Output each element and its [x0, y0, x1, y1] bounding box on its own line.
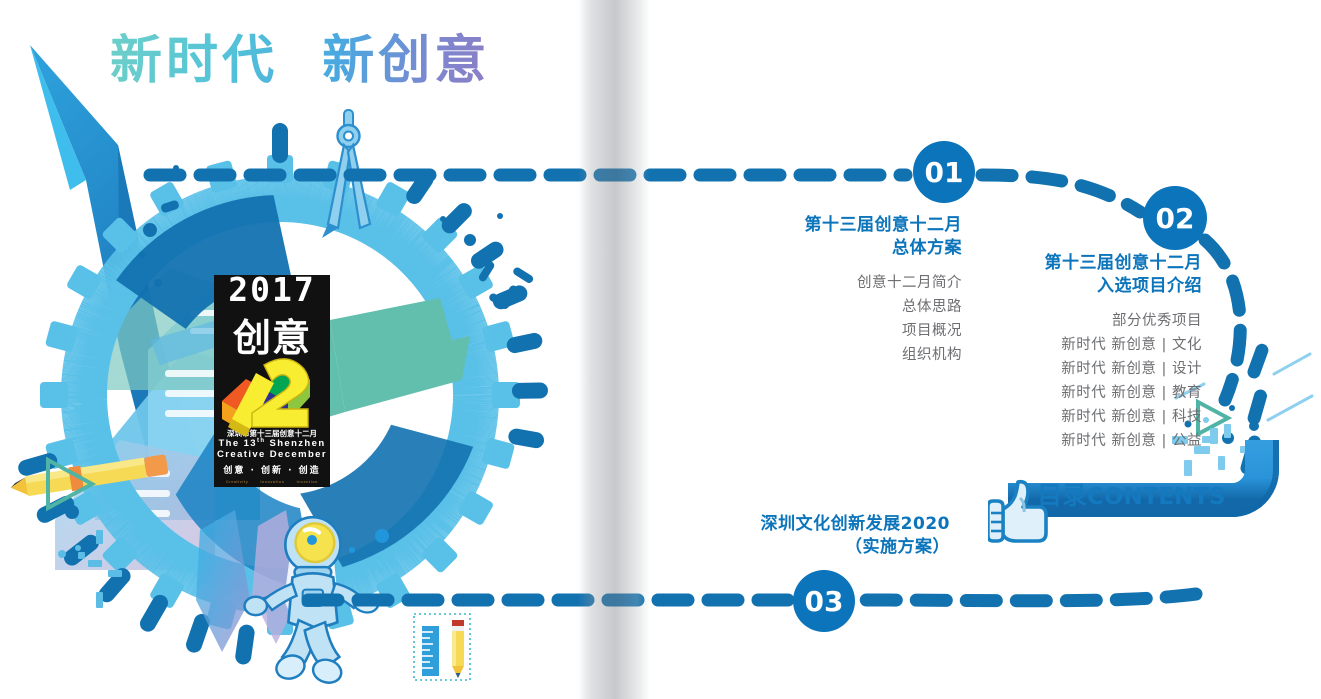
event-poster: 2017 创意 深圳市第十三届创意十二月 The 13th Shenzhen C… [214, 275, 330, 487]
list-item[interactable]: 新时代 新创意 | 科技 [982, 405, 1202, 429]
poster-year: 2017 [214, 275, 330, 309]
contents-label: 目录CONTENTS [1037, 476, 1226, 512]
pencil-icon [452, 620, 464, 678]
section-01-title: 第十三届创意十二月 总体方案 [742, 214, 962, 260]
list-item[interactable]: 部分优秀项目 [982, 309, 1202, 333]
toc-section-03[interactable]: 深圳文化创新发展2020 （实施方案） [700, 513, 950, 559]
section-01-title-line1: 第十三届创意十二月 [742, 214, 962, 237]
contents-label-en: CONTENTS [1087, 484, 1226, 510]
poster-12-graphic [216, 349, 328, 441]
ruler-icon [422, 626, 439, 676]
section-03-title: 深圳文化创新发展2020 （实施方案） [700, 513, 950, 559]
list-item[interactable]: 创意十二月简介 [742, 271, 962, 295]
section-badge-02[interactable]: 02 [1143, 186, 1207, 250]
list-item[interactable]: 新时代 新创意 | 设计 [982, 357, 1202, 381]
section-02-items: 部分优秀项目 新时代 新创意 | 文化 新时代 新创意 | 设计 新时代 新创意… [982, 309, 1202, 453]
list-item[interactable]: 组织机构 [742, 343, 962, 367]
section-03-title-line2: （实施方案） [700, 536, 950, 559]
section-01-title-line2: 总体方案 [742, 237, 962, 260]
tagline-en-1: Creativity [226, 480, 248, 484]
list-item[interactable]: 新时代 新创意 | 教育 [982, 381, 1202, 405]
section-badge-03[interactable]: 03 [793, 570, 855, 632]
section-02-title: 第十三届创意十二月 入选项目介绍 [982, 252, 1202, 298]
tagline-en-2: Innovation [260, 480, 284, 484]
poster-caption-en-c: Creative December [217, 449, 327, 460]
list-item[interactable]: 新时代 新创意 | 文化 [982, 333, 1202, 357]
section-03-title-line1: 深圳文化创新发展2020 [700, 513, 950, 536]
section-badge-01[interactable]: 01 [913, 141, 975, 203]
toc-section-01[interactable]: 第十三届创意十二月 总体方案 创意十二月简介 总体思路 项目概况 组织机构 [742, 214, 962, 367]
poster-tagline-en: Creativity Innovation Invention [214, 480, 330, 484]
section-01-items: 创意十二月简介 总体思路 项目概况 组织机构 [742, 271, 962, 367]
list-item[interactable]: 总体思路 [742, 295, 962, 319]
ruler-and-pencil-group [412, 612, 492, 692]
page-title: 新时代 新创意 [110, 18, 490, 93]
tagline-en-3: Invention [297, 480, 318, 484]
section-02-title-line1: 第十三届创意十二月 [982, 252, 1202, 275]
list-item[interactable]: 项目概况 [742, 319, 962, 343]
section-02-title-line2: 入选项目介绍 [982, 275, 1202, 298]
slide-canvas: 2017 创意 深圳市第十三届创意十二月 The 13th Shenzhen C… [0, 0, 1321, 699]
contents-label-cn: 目录 [1037, 481, 1087, 510]
poster-tagline: 创意 · 创新 · 创造 [214, 463, 330, 476]
toc-section-02[interactable]: 第十三届创意十二月 入选项目介绍 部分优秀项目 新时代 新创意 | 文化 新时代… [982, 252, 1202, 453]
